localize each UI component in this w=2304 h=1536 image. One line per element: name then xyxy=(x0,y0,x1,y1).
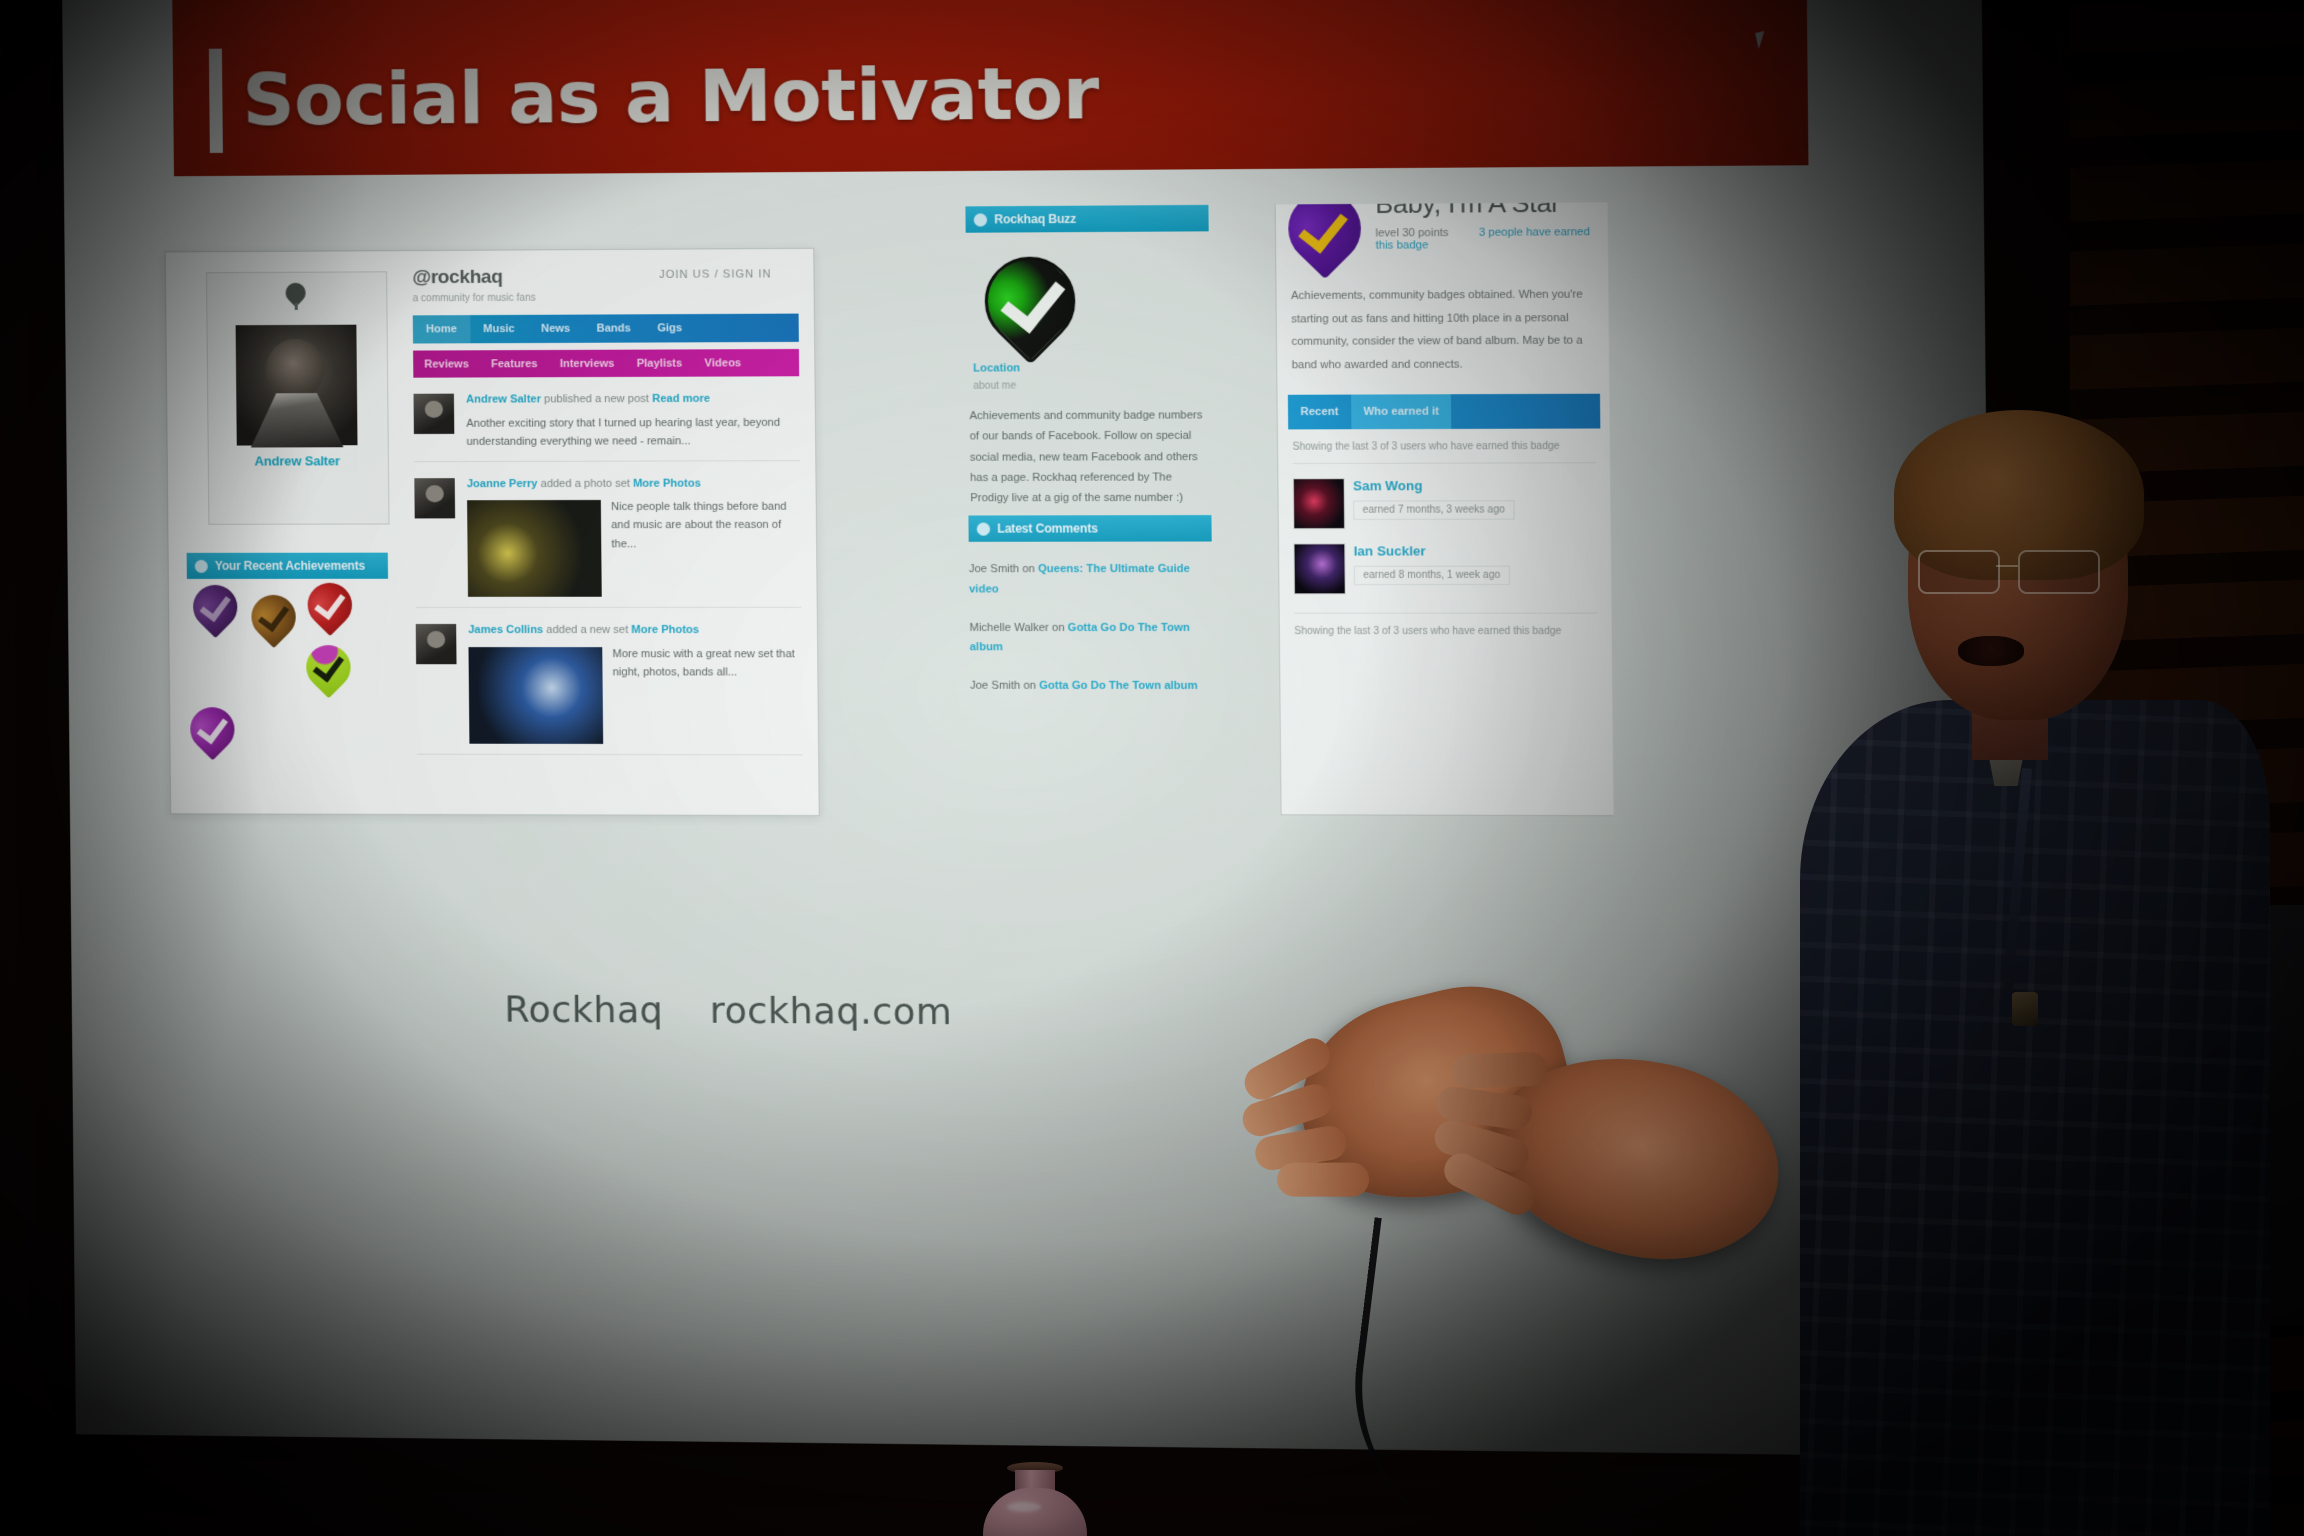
latest-panel-header: Latest Comments xyxy=(968,515,1211,542)
comment-prefix: Michelle Walker on xyxy=(969,621,1064,633)
nav-tab-music[interactable]: Music xyxy=(470,323,528,335)
badge-earner-row: Ian Suckler earned 8 months, 1 week ago xyxy=(1293,543,1597,594)
feed-post: Andrew Salter published a new post Read … xyxy=(413,390,800,462)
profile-display-name: Andrew Salter xyxy=(237,449,358,471)
buzz-panel: Rockhaq Buzz Location about me Achieveme… xyxy=(965,205,1211,509)
earner-avatar xyxy=(1293,544,1345,595)
post-author[interactable]: James Collins xyxy=(468,624,543,636)
profile-card: Andrew Salter xyxy=(206,271,390,525)
subnav-tab-playlists[interactable]: Playlists xyxy=(626,357,694,369)
red-badge[interactable] xyxy=(307,583,352,627)
user-icon xyxy=(974,213,987,226)
badge-page-tabbar[interactable]: Recent Who earned it xyxy=(1288,394,1600,430)
badge-page-body: Achievements, community badges obtained.… xyxy=(1291,283,1596,376)
nav-tab-news[interactable]: News xyxy=(528,323,584,335)
comment-tail[interactable]: album xyxy=(970,642,1003,654)
credits-brand: Rockhaq xyxy=(504,989,663,1031)
buzz-panel-title: Rockhaq Buzz xyxy=(994,212,1076,227)
buzz-body: Achievements and community badge numbers… xyxy=(969,405,1211,509)
lanyard-badge xyxy=(2012,992,2038,1026)
comment-link[interactable]: Gotta Go Do The Town xyxy=(1039,680,1161,692)
post-action: added a new set xyxy=(546,624,628,636)
presenter xyxy=(1790,400,2304,1536)
latest-panel-title: Latest Comments xyxy=(997,521,1098,535)
comment-link[interactable]: Gotta Go Do The Town xyxy=(1068,621,1190,633)
avatar xyxy=(236,325,358,446)
badge-meta-left: level 30 points xyxy=(1375,227,1448,240)
purple-yellow-tick-badge xyxy=(1288,202,1361,264)
post-avatar xyxy=(414,394,455,434)
screenshot-badge-page: Baby, I'm A Star level 30 points 3 peopl… xyxy=(1274,202,1613,816)
glasses-icon xyxy=(1918,550,2130,592)
feed-handle-meta: JOIN US / SIGN IN xyxy=(659,268,772,281)
green-black-tick-badge[interactable] xyxy=(984,256,1075,346)
comment-prefix: Joe Smith on xyxy=(970,680,1036,692)
post-action: added a photo set xyxy=(541,478,630,490)
tab-who-earned-it[interactable]: Who earned it xyxy=(1351,394,1452,429)
post-meta: Andrew Salter published a new post Read … xyxy=(466,390,799,408)
badge-page-meta: level 30 points 3 people have earned thi… xyxy=(1375,226,1609,252)
feed-post: Joanne Perry added a photo set More Phot… xyxy=(414,475,801,608)
feed-subtitle: a community for music fans xyxy=(413,291,799,304)
feed-handle: @rockhaq xyxy=(412,267,502,289)
post-meta: James Collins added a new set More Photo… xyxy=(468,622,801,639)
slide-title: Social as a Motivator xyxy=(242,50,1099,141)
violet-badge[interactable] xyxy=(190,707,235,751)
subnav-tab-reviews[interactable]: Reviews xyxy=(413,358,480,370)
bottle-body xyxy=(983,1488,1087,1536)
achievements-panel-title: Your Recent Achievements xyxy=(215,559,365,573)
earner-name[interactable]: Sam Wong xyxy=(1353,478,1597,494)
post-meta: Joanne Perry added a photo set More Phot… xyxy=(467,475,800,492)
post-link[interactable]: More Photos xyxy=(633,477,701,489)
tab-recent[interactable]: Recent xyxy=(1288,395,1351,430)
screenshot-badge-detail: Rockhaq Buzz Location about me Achieveme… xyxy=(965,202,1613,816)
photo-scene: Social as a Motivator Andrew Salter xyxy=(0,0,2304,1536)
pointer-arrow-icon xyxy=(1755,30,1773,49)
feed-post: James Collins added a new set More Photo… xyxy=(416,622,803,755)
latest-comment-item: Michelle Walker on Gotta Go Do The Town … xyxy=(969,618,1212,658)
lime-badge[interactable] xyxy=(306,645,351,689)
buzz-sub: about me xyxy=(973,380,1210,392)
post-link[interactable]: Read more xyxy=(652,393,710,405)
rockhaq-drop-logo-icon xyxy=(285,283,307,309)
trophy-icon xyxy=(195,559,208,572)
earner-name[interactable]: Ian Suckler xyxy=(1354,543,1598,559)
credits-url: rockhaq.com xyxy=(710,990,953,1033)
post-author[interactable]: Andrew Salter xyxy=(466,393,541,405)
latest-comment-item: Joe Smith on Queens: The Ultimate Guide … xyxy=(969,560,1212,600)
post-body: Another exciting story that I turned up … xyxy=(466,413,800,451)
achievements-panel: Your Recent Achievements xyxy=(187,553,390,769)
badge-grid xyxy=(187,579,390,768)
subnav-tab-interviews[interactable]: Interviews xyxy=(549,357,626,369)
comment-tail[interactable]: video xyxy=(969,583,999,595)
water-bottle xyxy=(975,1462,1095,1536)
activity-feed: @rockhaq JOIN US / SIGN IN a community f… xyxy=(412,265,803,811)
badge-list-note: Showing the last 3 of 3 users who have e… xyxy=(1292,441,1596,464)
presenter-shirt xyxy=(1800,700,2270,1536)
earner-stat: earned 8 months, 1 week ago xyxy=(1354,566,1510,586)
buzz-link[interactable]: Location xyxy=(973,362,1210,375)
earner-stat: earned 7 months, 3 weeks ago xyxy=(1353,500,1514,520)
badge-page-title: Baby, I'm A Star xyxy=(1375,202,1560,220)
slide-title-banner: Social as a Motivator xyxy=(172,0,1808,176)
comment-prefix: Joe Smith on xyxy=(969,563,1035,575)
earner-avatar xyxy=(1293,478,1345,529)
screenshot-collage: Andrew Salter Your Recent Achievements xyxy=(164,201,1770,816)
comment-tail[interactable]: album xyxy=(1164,680,1198,692)
badge-earner-row: Sam Wong earned 7 months, 3 weeks ago xyxy=(1293,478,1597,530)
latest-comments-panel: Latest Comments Joe Smith on Queens: The… xyxy=(968,515,1213,697)
slide-credits: Rockhaq rockhaq.com xyxy=(504,989,952,1033)
subnav-tab-videos[interactable]: Videos xyxy=(693,357,752,369)
bottle-highlight xyxy=(1007,1502,1041,1512)
buzz-panel-header: Rockhaq Buzz xyxy=(965,205,1208,233)
post-link[interactable]: More Photos xyxy=(631,624,699,636)
nav-tab-home[interactable]: Home xyxy=(413,315,470,343)
nav-tab-gigs[interactable]: Gigs xyxy=(644,322,695,334)
post-avatar xyxy=(414,478,455,518)
screenshot-profile-feed: Andrew Salter Your Recent Achievements xyxy=(165,248,820,816)
badge-list-footer: Showing the last 3 of 3 users who have e… xyxy=(1294,613,1598,638)
achievements-panel-header: Your Recent Achievements xyxy=(187,553,388,579)
bronze-badge[interactable] xyxy=(251,595,296,639)
feed-subnav[interactable]: Reviews Features Interviews Playlists Vi… xyxy=(413,349,799,378)
feed-navbar[interactable]: Home Music News Bands Gigs xyxy=(413,314,799,344)
post-photo xyxy=(467,500,602,597)
post-action: published a new post xyxy=(544,393,649,405)
subnav-tab-features[interactable]: Features xyxy=(480,358,549,370)
comment-link[interactable]: Queens: The Ultimate Guide xyxy=(1038,563,1190,575)
title-accent-bar xyxy=(209,48,223,152)
purple-badge[interactable] xyxy=(193,585,238,629)
latest-comment-item: Joe Smith on Gotta Go Do The Town album xyxy=(970,677,1213,697)
badge-page-header: Baby, I'm A Star level 30 points 3 peopl… xyxy=(1275,202,1609,272)
post-avatar xyxy=(416,624,457,664)
nav-tab-bands[interactable]: Bands xyxy=(583,322,644,334)
presenter-mouth xyxy=(1958,636,2024,666)
activity-icon xyxy=(977,522,990,535)
post-author[interactable]: Joanne Perry xyxy=(467,478,538,490)
post-photo xyxy=(468,647,603,744)
